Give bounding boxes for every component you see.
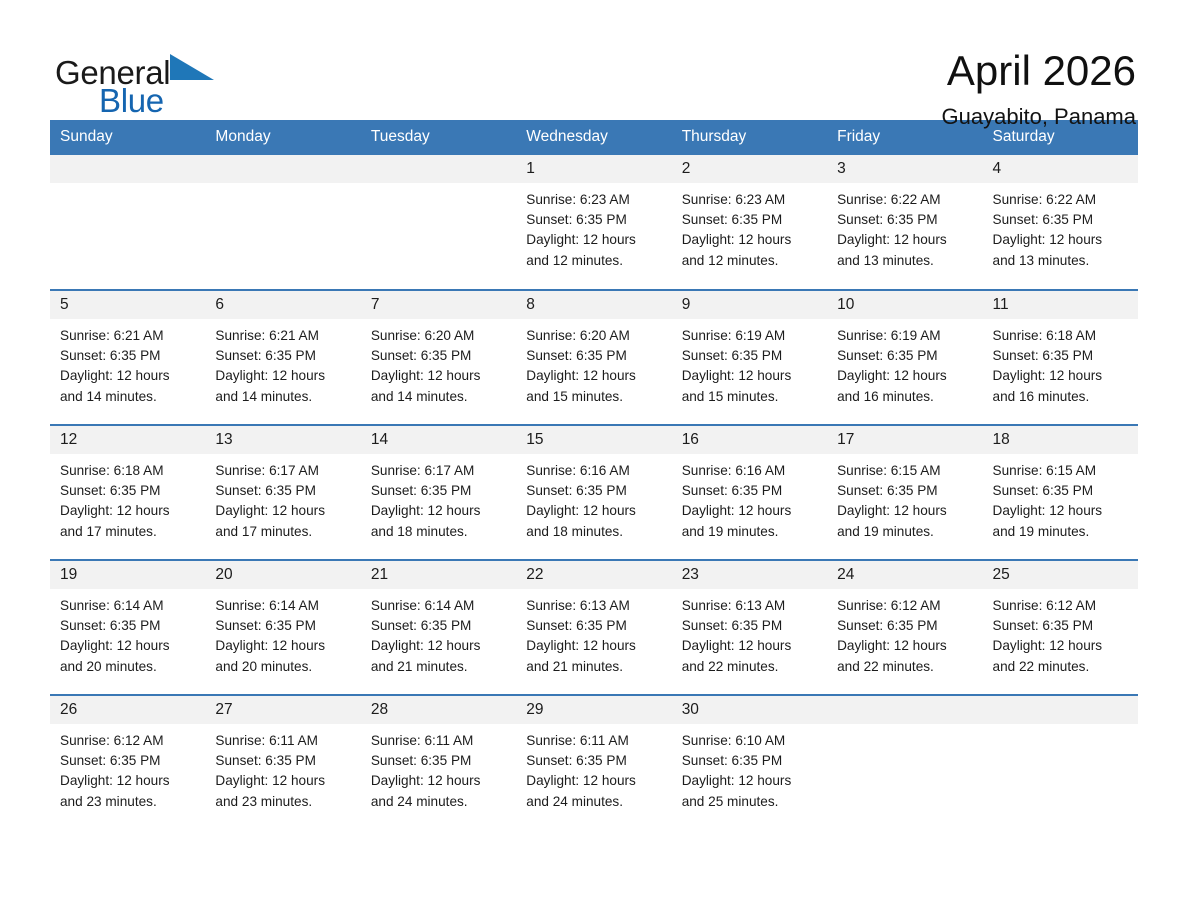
sunset-text: Sunset: 6:35 PM: [837, 616, 982, 636]
sunset-text: Sunset: 6:35 PM: [526, 346, 671, 366]
day-cell: [827, 695, 982, 830]
weekday-header-tuesday: Tuesday: [361, 120, 516, 155]
day-number: 23: [672, 561, 827, 589]
day-number: 3: [827, 155, 982, 183]
day-number: 20: [205, 561, 360, 589]
day-details: Sunrise: 6:18 AM Sunset: 6:35 PM Dayligh…: [50, 454, 205, 542]
day-number: 26: [50, 696, 205, 724]
daylight-text-line2: and 19 minutes.: [837, 522, 982, 542]
day-cell[interactable]: 24 Sunrise: 6:12 AM Sunset: 6:35 PM Dayl…: [827, 560, 982, 695]
daylight-text-line2: and 18 minutes.: [526, 522, 671, 542]
sunrise-text: Sunrise: 6:15 AM: [993, 461, 1138, 481]
day-details: Sunrise: 6:20 AM Sunset: 6:35 PM Dayligh…: [361, 319, 516, 407]
day-details: Sunrise: 6:22 AM Sunset: 6:35 PM Dayligh…: [983, 183, 1138, 271]
daylight-text-line2: and 22 minutes.: [993, 657, 1138, 677]
day-cell[interactable]: 7 Sunrise: 6:20 AM Sunset: 6:35 PM Dayli…: [361, 290, 516, 425]
sunset-text: Sunset: 6:35 PM: [682, 346, 827, 366]
sunrise-text: Sunrise: 6:15 AM: [837, 461, 982, 481]
daylight-text-line1: Daylight: 12 hours: [993, 501, 1138, 521]
day-cell[interactable]: 15 Sunrise: 6:16 AM Sunset: 6:35 PM Dayl…: [516, 425, 671, 560]
day-details: [50, 183, 205, 190]
day-number: [983, 696, 1138, 724]
day-details: [983, 724, 1138, 731]
daylight-text-line2: and 22 minutes.: [682, 657, 827, 677]
sunset-text: Sunset: 6:35 PM: [993, 616, 1138, 636]
weekday-header-monday: Monday: [205, 120, 360, 155]
day-cell[interactable]: 28 Sunrise: 6:11 AM Sunset: 6:35 PM Dayl…: [361, 695, 516, 830]
sunrise-text: Sunrise: 6:22 AM: [993, 190, 1138, 210]
daylight-text-line1: Daylight: 12 hours: [215, 366, 360, 386]
day-cell[interactable]: 30 Sunrise: 6:10 AM Sunset: 6:35 PM Dayl…: [672, 695, 827, 830]
sunrise-text: Sunrise: 6:11 AM: [371, 731, 516, 751]
daylight-text-line2: and 23 minutes.: [60, 792, 205, 812]
day-number: 1: [516, 155, 671, 183]
day-details: Sunrise: 6:11 AM Sunset: 6:35 PM Dayligh…: [205, 724, 360, 812]
sunset-text: Sunset: 6:35 PM: [526, 616, 671, 636]
daylight-text-line1: Daylight: 12 hours: [682, 501, 827, 521]
day-details: Sunrise: 6:21 AM Sunset: 6:35 PM Dayligh…: [205, 319, 360, 407]
day-cell[interactable]: 13 Sunrise: 6:17 AM Sunset: 6:35 PM Dayl…: [205, 425, 360, 560]
day-number: 8: [516, 291, 671, 319]
sunrise-text: Sunrise: 6:16 AM: [526, 461, 671, 481]
sunrise-text: Sunrise: 6:11 AM: [526, 731, 671, 751]
week-row: 1 Sunrise: 6:23 AM Sunset: 6:35 PM Dayli…: [50, 155, 1138, 290]
sunrise-text: Sunrise: 6:14 AM: [371, 596, 516, 616]
sunrise-text: Sunrise: 6:11 AM: [215, 731, 360, 751]
daylight-text-line1: Daylight: 12 hours: [993, 636, 1138, 656]
day-cell[interactable]: 10 Sunrise: 6:19 AM Sunset: 6:35 PM Dayl…: [827, 290, 982, 425]
day-cell[interactable]: 9 Sunrise: 6:19 AM Sunset: 6:35 PM Dayli…: [672, 290, 827, 425]
general-blue-logo[interactable]: General Blue: [55, 44, 255, 116]
day-cell[interactable]: 1 Sunrise: 6:23 AM Sunset: 6:35 PM Dayli…: [516, 155, 671, 290]
sunrise-text: Sunrise: 6:19 AM: [682, 326, 827, 346]
day-details: Sunrise: 6:15 AM Sunset: 6:35 PM Dayligh…: [827, 454, 982, 542]
week-row: 19 Sunrise: 6:14 AM Sunset: 6:35 PM Dayl…: [50, 560, 1138, 695]
day-number: [50, 155, 205, 183]
sunset-text: Sunset: 6:35 PM: [371, 616, 516, 636]
day-details: [205, 183, 360, 190]
daylight-text-line2: and 14 minutes.: [215, 387, 360, 407]
daylight-text-line1: Daylight: 12 hours: [371, 366, 516, 386]
day-number: 9: [672, 291, 827, 319]
day-number: 19: [50, 561, 205, 589]
daylight-text-line1: Daylight: 12 hours: [215, 771, 360, 791]
day-cell: [205, 155, 360, 290]
sunrise-text: Sunrise: 6:13 AM: [526, 596, 671, 616]
day-details: Sunrise: 6:21 AM Sunset: 6:35 PM Dayligh…: [50, 319, 205, 407]
day-number: [205, 155, 360, 183]
week-row: 26 Sunrise: 6:12 AM Sunset: 6:35 PM Dayl…: [50, 695, 1138, 830]
daylight-text-line2: and 12 minutes.: [682, 251, 827, 271]
day-cell[interactable]: 6 Sunrise: 6:21 AM Sunset: 6:35 PM Dayli…: [205, 290, 360, 425]
day-details: Sunrise: 6:12 AM Sunset: 6:35 PM Dayligh…: [50, 724, 205, 812]
day-number: 6: [205, 291, 360, 319]
sunset-text: Sunset: 6:35 PM: [215, 346, 360, 366]
day-details: [827, 724, 982, 731]
daylight-text-line1: Daylight: 12 hours: [60, 501, 205, 521]
day-details: Sunrise: 6:19 AM Sunset: 6:35 PM Dayligh…: [672, 319, 827, 407]
day-cell[interactable]: 14 Sunrise: 6:17 AM Sunset: 6:35 PM Dayl…: [361, 425, 516, 560]
sunset-text: Sunset: 6:35 PM: [215, 481, 360, 501]
sunrise-text: Sunrise: 6:14 AM: [215, 596, 360, 616]
day-details: Sunrise: 6:16 AM Sunset: 6:35 PM Dayligh…: [516, 454, 671, 542]
day-cell[interactable]: 4 Sunrise: 6:22 AM Sunset: 6:35 PM Dayli…: [983, 155, 1138, 290]
day-number: 4: [983, 155, 1138, 183]
sunrise-text: Sunrise: 6:12 AM: [837, 596, 982, 616]
day-details: Sunrise: 6:23 AM Sunset: 6:35 PM Dayligh…: [672, 183, 827, 271]
day-number: 30: [672, 696, 827, 724]
day-number: 16: [672, 426, 827, 454]
week-row: 12 Sunrise: 6:18 AM Sunset: 6:35 PM Dayl…: [50, 425, 1138, 560]
day-number: 11: [983, 291, 1138, 319]
day-details: Sunrise: 6:16 AM Sunset: 6:35 PM Dayligh…: [672, 454, 827, 542]
day-number: 17: [827, 426, 982, 454]
weekday-header-wednesday: Wednesday: [516, 120, 671, 155]
day-cell[interactable]: 20 Sunrise: 6:14 AM Sunset: 6:35 PM Dayl…: [205, 560, 360, 695]
daylight-text-line1: Daylight: 12 hours: [682, 366, 827, 386]
sunrise-text: Sunrise: 6:14 AM: [60, 596, 205, 616]
sunset-text: Sunset: 6:35 PM: [60, 346, 205, 366]
daylight-text-line1: Daylight: 12 hours: [682, 230, 827, 250]
sunrise-text: Sunrise: 6:12 AM: [60, 731, 205, 751]
sunset-text: Sunset: 6:35 PM: [837, 481, 982, 501]
daylight-text-line2: and 17 minutes.: [60, 522, 205, 542]
day-details: Sunrise: 6:14 AM Sunset: 6:35 PM Dayligh…: [361, 589, 516, 677]
week-row: 5 Sunrise: 6:21 AM Sunset: 6:35 PM Dayli…: [50, 290, 1138, 425]
day-number: 12: [50, 426, 205, 454]
day-cell[interactable]: 29 Sunrise: 6:11 AM Sunset: 6:35 PM Dayl…: [516, 695, 671, 830]
day-cell[interactable]: 16 Sunrise: 6:16 AM Sunset: 6:35 PM Dayl…: [672, 425, 827, 560]
daylight-text-line2: and 24 minutes.: [371, 792, 516, 812]
sunset-text: Sunset: 6:35 PM: [682, 481, 827, 501]
daylight-text-line2: and 14 minutes.: [60, 387, 205, 407]
day-number: 14: [361, 426, 516, 454]
day-number: 7: [361, 291, 516, 319]
sunset-text: Sunset: 6:35 PM: [682, 616, 827, 636]
daylight-text-line2: and 19 minutes.: [993, 522, 1138, 542]
sunrise-text: Sunrise: 6:10 AM: [682, 731, 827, 751]
daylight-text-line1: Daylight: 12 hours: [526, 501, 671, 521]
daylight-text-line2: and 15 minutes.: [526, 387, 671, 407]
day-details: Sunrise: 6:11 AM Sunset: 6:35 PM Dayligh…: [361, 724, 516, 812]
day-cell[interactable]: 8 Sunrise: 6:20 AM Sunset: 6:35 PM Dayli…: [516, 290, 671, 425]
day-details: Sunrise: 6:15 AM Sunset: 6:35 PM Dayligh…: [983, 454, 1138, 542]
day-cell[interactable]: 26 Sunrise: 6:12 AM Sunset: 6:35 PM Dayl…: [50, 695, 205, 830]
day-cell[interactable]: 18 Sunrise: 6:15 AM Sunset: 6:35 PM Dayl…: [983, 425, 1138, 560]
daylight-text-line2: and 16 minutes.: [837, 387, 982, 407]
daylight-text-line2: and 20 minutes.: [60, 657, 205, 677]
daylight-text-line2: and 14 minutes.: [371, 387, 516, 407]
day-details: Sunrise: 6:17 AM Sunset: 6:35 PM Dayligh…: [361, 454, 516, 542]
weekday-header-thursday: Thursday: [672, 120, 827, 155]
sunset-text: Sunset: 6:35 PM: [60, 481, 205, 501]
day-details: Sunrise: 6:17 AM Sunset: 6:35 PM Dayligh…: [205, 454, 360, 542]
day-cell[interactable]: 12 Sunrise: 6:18 AM Sunset: 6:35 PM Dayl…: [50, 425, 205, 560]
day-number: 10: [827, 291, 982, 319]
day-number: 28: [361, 696, 516, 724]
daylight-text-line2: and 21 minutes.: [371, 657, 516, 677]
sunset-text: Sunset: 6:35 PM: [371, 346, 516, 366]
sunset-text: Sunset: 6:35 PM: [371, 751, 516, 771]
day-number: 15: [516, 426, 671, 454]
sunrise-text: Sunrise: 6:23 AM: [682, 190, 827, 210]
day-cell[interactable]: 11 Sunrise: 6:18 AM Sunset: 6:35 PM Dayl…: [983, 290, 1138, 425]
day-details: Sunrise: 6:22 AM Sunset: 6:35 PM Dayligh…: [827, 183, 982, 271]
day-details: Sunrise: 6:12 AM Sunset: 6:35 PM Dayligh…: [827, 589, 982, 677]
sunrise-text: Sunrise: 6:13 AM: [682, 596, 827, 616]
day-cell[interactable]: 21 Sunrise: 6:14 AM Sunset: 6:35 PM Dayl…: [361, 560, 516, 695]
sunset-text: Sunset: 6:35 PM: [526, 481, 671, 501]
sunset-text: Sunset: 6:35 PM: [371, 481, 516, 501]
day-details: Sunrise: 6:12 AM Sunset: 6:35 PM Dayligh…: [983, 589, 1138, 677]
sunset-text: Sunset: 6:35 PM: [837, 210, 982, 230]
sunrise-text: Sunrise: 6:20 AM: [526, 326, 671, 346]
logo-top-row: General: [55, 52, 255, 90]
daylight-text-line2: and 17 minutes.: [215, 522, 360, 542]
day-number: 24: [827, 561, 982, 589]
daylight-text-line1: Daylight: 12 hours: [993, 230, 1138, 250]
day-details: Sunrise: 6:14 AM Sunset: 6:35 PM Dayligh…: [50, 589, 205, 677]
sunset-text: Sunset: 6:35 PM: [682, 210, 827, 230]
day-cell[interactable]: 3 Sunrise: 6:22 AM Sunset: 6:35 PM Dayli…: [827, 155, 982, 290]
daylight-text-line1: Daylight: 12 hours: [371, 501, 516, 521]
sunset-text: Sunset: 6:35 PM: [215, 751, 360, 771]
daylight-text-line1: Daylight: 12 hours: [60, 771, 205, 791]
sunset-text: Sunset: 6:35 PM: [993, 210, 1138, 230]
daylight-text-line1: Daylight: 12 hours: [371, 636, 516, 656]
sunrise-text: Sunrise: 6:21 AM: [60, 326, 205, 346]
daylight-text-line1: Daylight: 12 hours: [993, 366, 1138, 386]
sunrise-text: Sunrise: 6:21 AM: [215, 326, 360, 346]
daylight-text-line1: Daylight: 12 hours: [371, 771, 516, 791]
sunset-text: Sunset: 6:35 PM: [215, 616, 360, 636]
day-details: Sunrise: 6:14 AM Sunset: 6:35 PM Dayligh…: [205, 589, 360, 677]
day-number: 18: [983, 426, 1138, 454]
sunset-text: Sunset: 6:35 PM: [993, 481, 1138, 501]
sunrise-text: Sunrise: 6:17 AM: [371, 461, 516, 481]
logo-text-general: General: [55, 56, 170, 90]
sunset-text: Sunset: 6:35 PM: [60, 751, 205, 771]
daylight-text-line2: and 21 minutes.: [526, 657, 671, 677]
day-details: Sunrise: 6:20 AM Sunset: 6:35 PM Dayligh…: [516, 319, 671, 407]
daylight-text-line2: and 18 minutes.: [371, 522, 516, 542]
day-details: Sunrise: 6:11 AM Sunset: 6:35 PM Dayligh…: [516, 724, 671, 812]
day-cell[interactable]: 2 Sunrise: 6:23 AM Sunset: 6:35 PM Dayli…: [672, 155, 827, 290]
calendar-body: 1 Sunrise: 6:23 AM Sunset: 6:35 PM Dayli…: [50, 155, 1138, 830]
sunset-text: Sunset: 6:35 PM: [837, 346, 982, 366]
sunrise-text: Sunrise: 6:22 AM: [837, 190, 982, 210]
sunrise-text: Sunrise: 6:18 AM: [993, 326, 1138, 346]
day-number: 22: [516, 561, 671, 589]
daylight-text-line2: and 15 minutes.: [682, 387, 827, 407]
day-number: 5: [50, 291, 205, 319]
day-cell[interactable]: 5 Sunrise: 6:21 AM Sunset: 6:35 PM Dayli…: [50, 290, 205, 425]
daylight-text-line1: Daylight: 12 hours: [837, 501, 982, 521]
day-details: Sunrise: 6:13 AM Sunset: 6:35 PM Dayligh…: [516, 589, 671, 677]
daylight-text-line2: and 13 minutes.: [993, 251, 1138, 271]
day-details: [361, 183, 516, 190]
daylight-text-line1: Daylight: 12 hours: [682, 771, 827, 791]
sunset-text: Sunset: 6:35 PM: [993, 346, 1138, 366]
sunset-text: Sunset: 6:35 PM: [526, 751, 671, 771]
sunrise-text: Sunrise: 6:19 AM: [837, 326, 982, 346]
day-number: 2: [672, 155, 827, 183]
calendar-page: General Blue April 2026 Guayabito, Panam…: [0, 0, 1188, 918]
day-cell[interactable]: 23 Sunrise: 6:13 AM Sunset: 6:35 PM Dayl…: [672, 560, 827, 695]
sunrise-text: Sunrise: 6:12 AM: [993, 596, 1138, 616]
daylight-text-line1: Daylight: 12 hours: [837, 636, 982, 656]
daylight-text-line1: Daylight: 12 hours: [837, 366, 982, 386]
day-details: Sunrise: 6:10 AM Sunset: 6:35 PM Dayligh…: [672, 724, 827, 812]
daylight-text-line1: Daylight: 12 hours: [526, 636, 671, 656]
sunset-text: Sunset: 6:35 PM: [526, 210, 671, 230]
daylight-text-line1: Daylight: 12 hours: [60, 636, 205, 656]
daylight-text-line1: Daylight: 12 hours: [215, 501, 360, 521]
daylight-text-line2: and 19 minutes.: [682, 522, 827, 542]
daylight-text-line1: Daylight: 12 hours: [215, 636, 360, 656]
daylight-text-line2: and 12 minutes.: [526, 251, 671, 271]
page-header: General Blue April 2026 Guayabito, Panam…: [0, 0, 1188, 112]
sunrise-text: Sunrise: 6:18 AM: [60, 461, 205, 481]
sunrise-text: Sunrise: 6:17 AM: [215, 461, 360, 481]
day-number: [361, 155, 516, 183]
day-details: Sunrise: 6:23 AM Sunset: 6:35 PM Dayligh…: [516, 183, 671, 271]
daylight-text-line1: Daylight: 12 hours: [526, 230, 671, 250]
day-number: 29: [516, 696, 671, 724]
calendar-table: Sunday Monday Tuesday Wednesday Thursday…: [50, 120, 1138, 830]
day-details: Sunrise: 6:18 AM Sunset: 6:35 PM Dayligh…: [983, 319, 1138, 407]
day-cell[interactable]: 19 Sunrise: 6:14 AM Sunset: 6:35 PM Dayl…: [50, 560, 205, 695]
day-number: 21: [361, 561, 516, 589]
day-cell: [983, 695, 1138, 830]
daylight-text-line1: Daylight: 12 hours: [837, 230, 982, 250]
sunrise-text: Sunrise: 6:23 AM: [526, 190, 671, 210]
day-cell[interactable]: 17 Sunrise: 6:15 AM Sunset: 6:35 PM Dayl…: [827, 425, 982, 560]
daylight-text-line2: and 24 minutes.: [526, 792, 671, 812]
day-cell[interactable]: 25 Sunrise: 6:12 AM Sunset: 6:35 PM Dayl…: [983, 560, 1138, 695]
day-cell[interactable]: 27 Sunrise: 6:11 AM Sunset: 6:35 PM Dayl…: [205, 695, 360, 830]
daylight-text-line1: Daylight: 12 hours: [682, 636, 827, 656]
day-cell[interactable]: 22 Sunrise: 6:13 AM Sunset: 6:35 PM Dayl…: [516, 560, 671, 695]
daylight-text-line1: Daylight: 12 hours: [526, 366, 671, 386]
sunset-text: Sunset: 6:35 PM: [682, 751, 827, 771]
calendar-container: Sunday Monday Tuesday Wednesday Thursday…: [0, 120, 1188, 830]
title-block: April 2026 Guayabito, Panama: [942, 44, 1136, 132]
sunrise-text: Sunrise: 6:16 AM: [682, 461, 827, 481]
triangle-icon: [168, 52, 216, 87]
weekday-header-sunday: Sunday: [50, 120, 205, 155]
day-number: [827, 696, 982, 724]
daylight-text-line1: Daylight: 12 hours: [526, 771, 671, 791]
sunset-text: Sunset: 6:35 PM: [60, 616, 205, 636]
day-details: Sunrise: 6:19 AM Sunset: 6:35 PM Dayligh…: [827, 319, 982, 407]
daylight-text-line2: and 20 minutes.: [215, 657, 360, 677]
day-number: 13: [205, 426, 360, 454]
day-cell: [361, 155, 516, 290]
day-number: 27: [205, 696, 360, 724]
daylight-text-line2: and 22 minutes.: [837, 657, 982, 677]
daylight-text-line1: Daylight: 12 hours: [60, 366, 205, 386]
daylight-text-line2: and 13 minutes.: [837, 251, 982, 271]
day-number: 25: [983, 561, 1138, 589]
daylight-text-line2: and 25 minutes.: [682, 792, 827, 812]
sunrise-text: Sunrise: 6:20 AM: [371, 326, 516, 346]
day-cell: [50, 155, 205, 290]
daylight-text-line2: and 16 minutes.: [993, 387, 1138, 407]
daylight-text-line2: and 23 minutes.: [215, 792, 360, 812]
day-details: Sunrise: 6:13 AM Sunset: 6:35 PM Dayligh…: [672, 589, 827, 677]
page-title: April 2026: [942, 46, 1136, 96]
